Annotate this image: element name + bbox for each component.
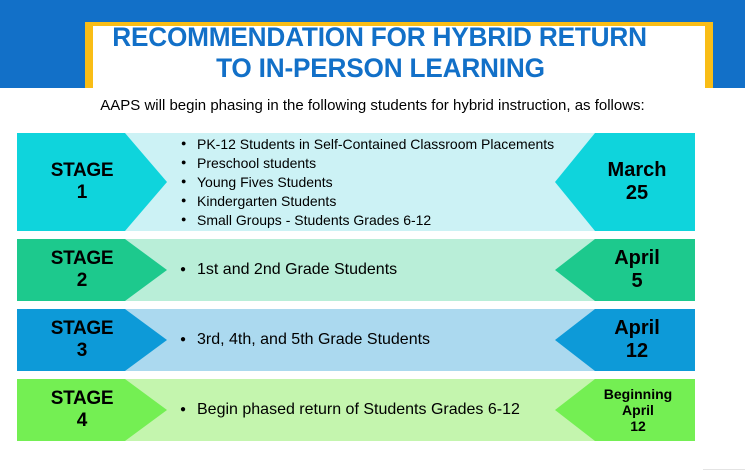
date-line: 5 bbox=[631, 270, 642, 293]
date-line: April bbox=[614, 317, 660, 340]
stage-row: STAGE1PK-12 Students in Self-Contained C… bbox=[17, 133, 695, 231]
page-title: RECOMMENDATION FOR HYBRID RETURN TO IN-P… bbox=[60, 22, 700, 90]
date-line: 25 bbox=[626, 182, 648, 205]
list-item: Kindergarten Students bbox=[197, 192, 545, 211]
stage-bullet-list: 3rd, 4th, and 5th Grade Students bbox=[179, 309, 545, 371]
title-line-1: RECOMMENDATION FOR HYBRID RETURN bbox=[113, 22, 648, 53]
stage-row: STAGE33rd, 4th, and 5th Grade StudentsAp… bbox=[17, 309, 695, 371]
date-line: April bbox=[614, 247, 660, 270]
stage-label: STAGE bbox=[51, 318, 114, 340]
list-item: Begin phased return of Students Grades 6… bbox=[197, 400, 545, 420]
date-line: 12 bbox=[626, 340, 648, 363]
stage-list: STAGE1PK-12 Students in Self-Contained C… bbox=[17, 133, 695, 449]
title-line-2: TO IN-PERSON LEARNING bbox=[216, 53, 545, 84]
stage-number: 3 bbox=[77, 340, 88, 362]
stage-bullet-list: Begin phased return of Students Grades 6… bbox=[179, 379, 545, 441]
stage-row: STAGE4Begin phased return of Students Gr… bbox=[17, 379, 695, 441]
list-item: PK-12 Students in Self-Contained Classro… bbox=[197, 135, 545, 154]
date-line: March bbox=[608, 159, 667, 182]
stage-number: 2 bbox=[77, 270, 88, 292]
list-item: Preschool students bbox=[197, 154, 545, 173]
stage-number: 4 bbox=[77, 410, 88, 432]
stage-label: STAGE bbox=[51, 248, 114, 270]
stage-label: STAGE bbox=[51, 388, 114, 410]
stage-bullet-list: PK-12 Students in Self-Contained Classro… bbox=[179, 133, 545, 231]
stage-bullet-list: 1st and 2nd Grade Students bbox=[179, 239, 545, 301]
date-line: April bbox=[622, 402, 654, 418]
list-item: Small Groups - Students Grades 6-12 bbox=[197, 211, 545, 230]
date-line: 12 bbox=[630, 418, 646, 434]
list-item: 1st and 2nd Grade Students bbox=[197, 260, 545, 280]
list-item: 3rd, 4th, and 5th Grade Students bbox=[197, 330, 545, 350]
stage-number: 1 bbox=[77, 182, 88, 204]
corner-artifact bbox=[703, 469, 745, 470]
date-line: Beginning bbox=[604, 386, 672, 402]
subtitle-text: AAPS will begin phasing in the following… bbox=[0, 96, 745, 116]
stage-label: STAGE bbox=[51, 160, 114, 182]
list-item: Young Fives Students bbox=[197, 173, 545, 192]
stage-row: STAGE21st and 2nd Grade StudentsApril5 bbox=[17, 239, 695, 301]
